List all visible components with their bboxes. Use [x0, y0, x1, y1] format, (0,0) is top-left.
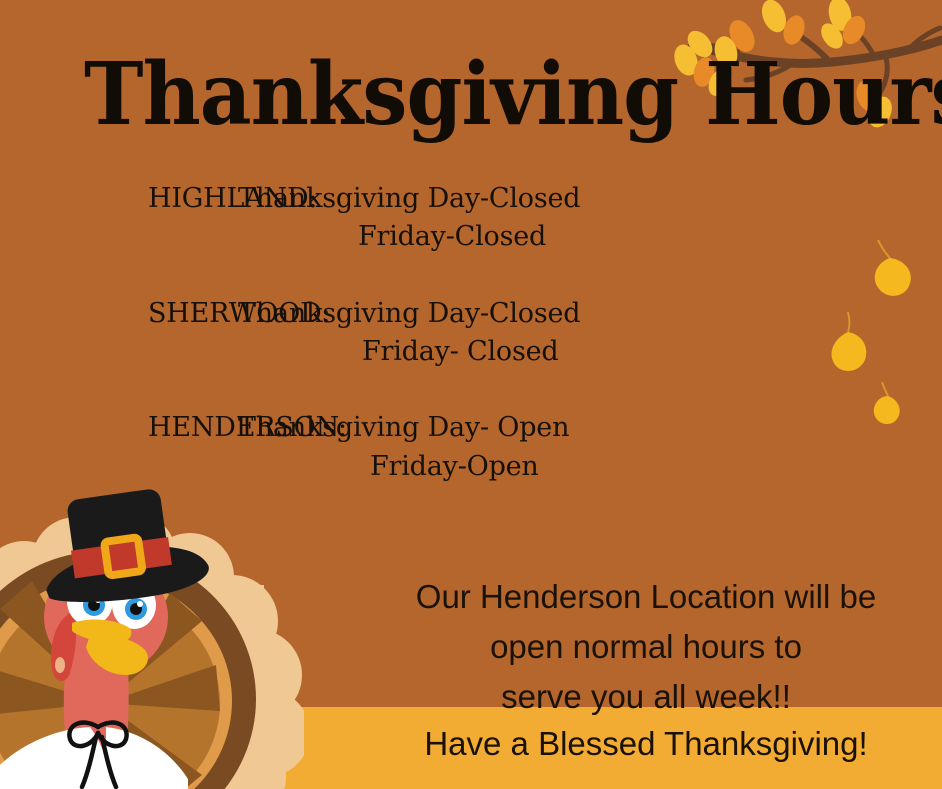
turkey-beak [72, 620, 148, 675]
closing-message: Our Henderson Location will be open norm… [372, 572, 920, 722]
turkey-eyes [67, 576, 156, 629]
thanksgiving-hours-poster: Thanksgiving Hours HIGHLAND: Thanksgivin… [0, 0, 942, 789]
location-block-highland: HIGHLAND: Thanksgiving Day-Closed Friday… [0, 180, 790, 257]
location-name-sherwood: SHERWOOD: [0, 295, 238, 333]
location-thanksgiving-sherwood: Thanksgiving Day-Closed [238, 295, 580, 333]
closing-line-1: Our Henderson Location will be [372, 572, 920, 622]
closing-line-2: open normal hours to [372, 622, 920, 672]
closing-line-3: serve you all week!! [372, 672, 920, 722]
turkey-pilgrim-hat [34, 489, 211, 611]
location-name-henderson: HENDERSON: [0, 409, 238, 447]
location-thanksgiving-henderson: Thanksgiving Day- Open [238, 409, 569, 447]
turkey-head [44, 559, 168, 675]
hours-list: HIGHLAND: Thanksgiving Day-Closed Friday… [0, 180, 790, 486]
turkey-wattle [51, 613, 76, 681]
location-friday-highland: Friday-Closed [0, 218, 790, 256]
location-block-henderson: HENDERSON: Thanksgiving Day- Open Friday… [0, 409, 790, 486]
location-friday-henderson: Friday-Open [0, 448, 790, 486]
location-thanksgiving-highland: Thanksgiving Day-Closed [238, 180, 580, 218]
location-name-highland: HIGHLAND: [0, 180, 238, 218]
location-friday-sherwood: Friday- Closed [0, 333, 790, 371]
falling-leaves-icon [812, 230, 942, 430]
blessing-message: Have a Blessed Thanksgiving! [372, 722, 920, 766]
location-block-sherwood: SHERWOOD: Thanksgiving Day-Closed Friday… [0, 295, 790, 372]
page-title: Thanksgiving Hours [84, 52, 942, 138]
